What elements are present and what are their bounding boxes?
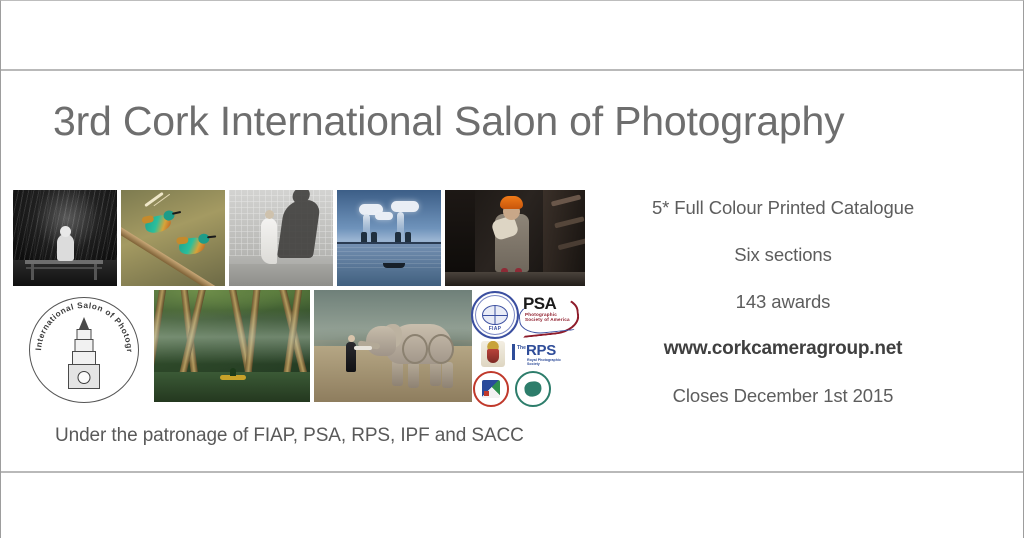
tower-spire [79,317,89,329]
psa-logo-label: PSA [523,294,556,314]
person-figure [346,342,356,372]
photo-mangrove-kayak [154,290,310,402]
patronage-text: Under the patronage of FIAP, PSA, RPS, I… [55,425,524,447]
tower-clock [78,371,91,384]
floor [445,272,585,286]
elephant-head [366,326,396,356]
cloud [375,212,393,220]
bird-upper [144,213,173,234]
floor [229,264,333,286]
fiap-logo-label: FIAP [489,326,502,332]
rps-bar [512,344,515,360]
photo-turban-portrait [445,190,585,286]
website-link[interactable]: www.corkcameragroup.net [603,338,963,360]
bird-crown [176,236,189,244]
elephant-leg [408,362,419,388]
kayak [220,375,246,380]
ipf-emblem [482,380,500,398]
cloud [391,201,419,212]
divider-top [1,69,1024,71]
rps-logo-label: RPS [526,342,556,359]
person-arm [354,346,372,350]
surreal-hoop [428,334,454,364]
divider-bottom [1,471,1024,473]
psa-logo-icon: PSA Photographic Society of America [519,293,577,335]
ireland-map-shape [524,381,542,398]
detail-catalogue: 5* Full Colour Printed Catalogue [603,197,963,219]
wing-plume [144,192,164,207]
orange-turban [500,196,523,209]
bird-crown [141,215,154,224]
photo-elephant-surreal [314,290,472,402]
elephant-leg [442,362,453,388]
page-title: 3rd Cork International Salon of Photogra… [53,98,983,145]
rps-logo-icon: The RPS Royal Photographic Society [479,339,573,369]
bride-figure [261,218,277,264]
photo-cooling-towers [337,190,441,286]
psa-logo-sublabel: Photographic Society of America [525,312,571,322]
sacc-logo-icon [515,371,551,407]
bird-head [198,233,210,244]
detail-closing-date: Closes December 1st 2015 [603,385,963,407]
rps-crest [481,341,505,367]
boat [383,263,405,268]
detail-awards: 143 awards [603,291,963,313]
details-column: 5* Full Colour Printed Catalogue Six sec… [603,197,963,407]
bird-head [163,209,176,221]
cooling-tower [371,232,377,242]
photo-bride-shadow [229,190,333,286]
rps-logo-sublabel: Royal Photographic Society [527,358,571,366]
fiap-globe [482,305,508,325]
bird-lower [178,237,206,256]
detail-sections: Six sections [603,244,963,266]
photo-rain-bench-couple [13,190,117,286]
photo-bee-eaters [121,190,225,286]
surreal-hoop [402,334,428,364]
fiap-logo-icon: FIAP [471,291,519,339]
cork-salon-seal: Cork International Salon of Photography [29,297,139,403]
mist [154,310,310,364]
poster-canvas: 3rd Cork International Salon of Photogra… [0,0,1024,538]
rps-logo-prefix: The [517,345,526,351]
cooling-tower [395,232,401,242]
cooling-tower [361,232,367,242]
ipf-logo-icon [473,371,509,407]
patron-logos: FIAP PSA Photographic Society of America… [469,291,579,403]
cooling-tower [405,232,411,242]
figure [57,234,74,261]
shandon-tower-icon [67,317,101,387]
